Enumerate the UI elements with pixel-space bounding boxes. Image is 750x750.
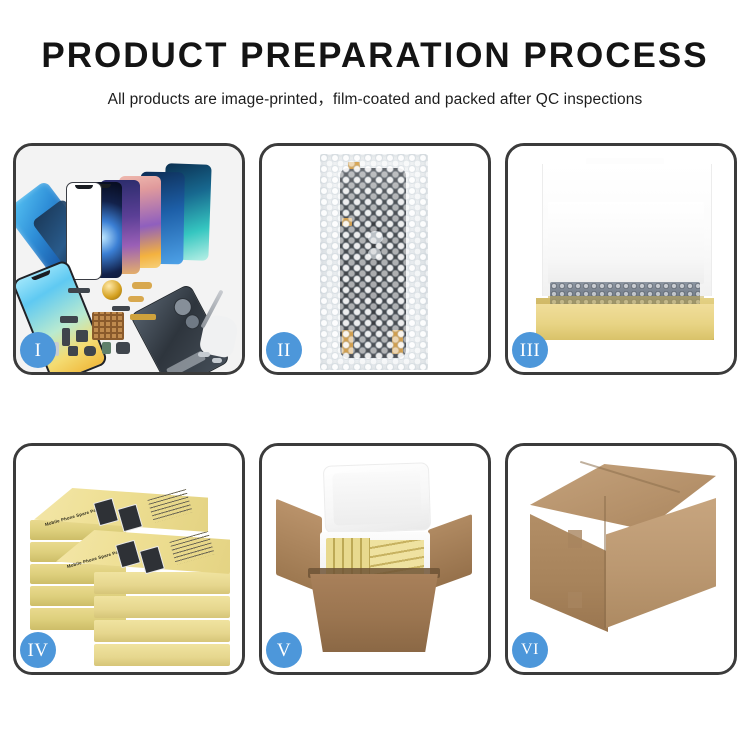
step-badge-6: VI	[512, 632, 548, 668]
stacked-box	[94, 620, 230, 642]
product-preparation-infographic: PRODUCT PREPARATION PROCESS All products…	[0, 0, 750, 750]
small-part	[68, 288, 90, 293]
flex-cable	[132, 282, 152, 289]
bubble-wrap-bag	[320, 154, 428, 370]
steps-row-bottom: Mobile Phone Spare Parts Mobile Phone Sp…	[13, 443, 737, 675]
foam-box-lid	[323, 462, 431, 534]
carton-tape-upper	[568, 530, 582, 548]
small-part	[68, 346, 78, 356]
screw	[198, 352, 210, 357]
bubble-texture	[320, 154, 428, 370]
step-badge-4: IV	[20, 632, 56, 668]
small-part	[60, 316, 78, 323]
step-panel-5: V	[259, 443, 491, 675]
small-part	[84, 346, 96, 356]
step-badge-5: V	[266, 632, 302, 668]
foam-sheet	[548, 202, 704, 284]
box-front-yellow	[536, 304, 714, 340]
page-subtitle: All products are image-printed，film-coat…	[0, 87, 750, 109]
step-panel-2: II	[259, 143, 491, 375]
step-panel-3: III	[505, 143, 737, 375]
small-part	[76, 330, 88, 342]
stacked-box	[94, 596, 230, 618]
step-panel-4: Mobile Phone Spare Parts Mobile Phone Sp…	[13, 443, 245, 675]
stacked-box	[94, 572, 230, 594]
phone-notch	[31, 270, 51, 281]
step-badge-2: II	[266, 332, 302, 368]
small-part	[116, 342, 130, 354]
step-panel-6: VI	[505, 443, 737, 675]
box-stack: Mobile Phone Spare Parts Mobile Phone Sp…	[26, 468, 238, 664]
phone-notch	[75, 185, 93, 189]
step-badge-1: I	[20, 332, 56, 368]
screws-grid	[92, 312, 124, 340]
small-part	[102, 342, 111, 354]
screw	[212, 358, 222, 363]
stacked-box	[94, 644, 230, 666]
screen-protector-glass	[66, 182, 102, 280]
step-badge-3: III	[512, 332, 548, 368]
page-title: PRODUCT PREPARATION PROCESS	[0, 38, 750, 73]
header: PRODUCT PREPARATION PROCESS All products…	[0, 38, 750, 109]
foam-lid-inner	[332, 470, 422, 525]
small-part	[112, 306, 130, 311]
steps-row-top: I	[13, 143, 737, 375]
speaker-coil	[102, 280, 122, 300]
carton-tape-lower	[568, 592, 582, 608]
carton-body	[310, 574, 438, 652]
carton-vertical-edge	[604, 496, 606, 628]
step-panel-1: I	[13, 143, 245, 375]
steps-grid: I	[13, 143, 737, 675]
small-part	[62, 328, 70, 346]
flex-cable	[128, 296, 144, 302]
flex-cable	[130, 314, 156, 320]
